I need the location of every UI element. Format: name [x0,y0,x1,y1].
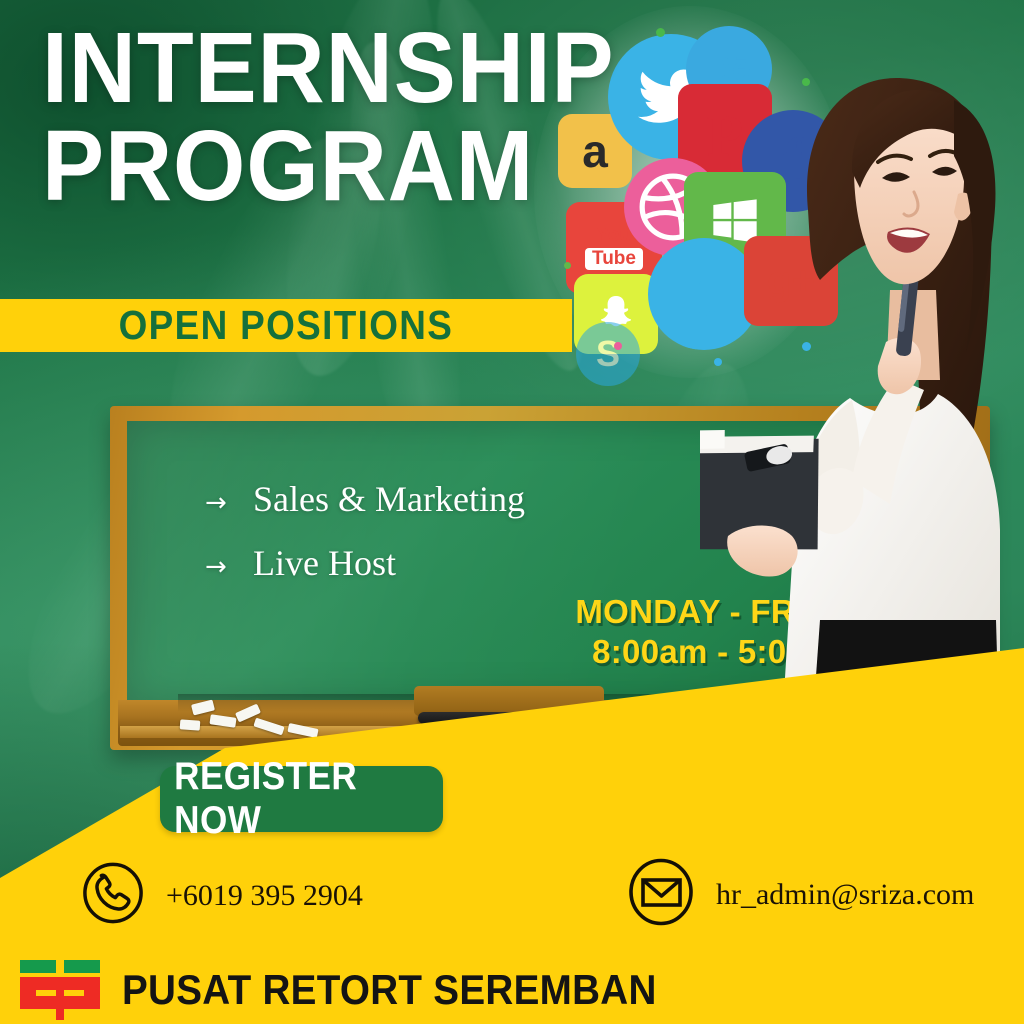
headline-line-1: INTERNSHIP [42,22,535,114]
skype-icon: S [576,322,640,386]
contact-phone[interactable]: +6019 395 2904 [82,862,363,929]
pusat-retort-seremban-logo-icon [18,960,104,1020]
position-label: Sales & Marketing [253,478,525,520]
list-item: → Sales & Marketing [205,478,525,520]
page-title: INTERNSHIP PROGRAM [42,22,572,212]
contact-email[interactable]: hr_admin@sriza.com [628,858,974,931]
list-item: → Live Host [205,542,525,584]
arrow-icon: → [205,552,253,582]
internship-program-poster: INTERNSHIP PROGRAM OPEN POSITIONS a YouT… [0,0,1024,1024]
footer-branding: PUSAT RETORT SEREMBAN [18,960,703,1020]
email-icon [628,858,694,931]
headline-line-2: PROGRAM [42,120,535,212]
email-address: hr_admin@sriza.com [716,878,974,912]
company-name: PUSAT RETORT SEREMBAN [122,966,657,1014]
register-now-label: REGISTER NOW [174,755,429,843]
open-positions-label: OPEN POSITIONS [119,302,454,349]
phone-number: +6019 395 2904 [166,879,363,913]
arrow-icon: → [205,488,253,518]
position-label: Live Host [253,542,396,584]
phone-icon [82,862,144,929]
open-positions-banner: OPEN POSITIONS [0,299,572,352]
register-now-button[interactable]: REGISTER NOW [160,766,443,832]
open-positions-list: → Sales & Marketing → Live Host [205,478,525,606]
